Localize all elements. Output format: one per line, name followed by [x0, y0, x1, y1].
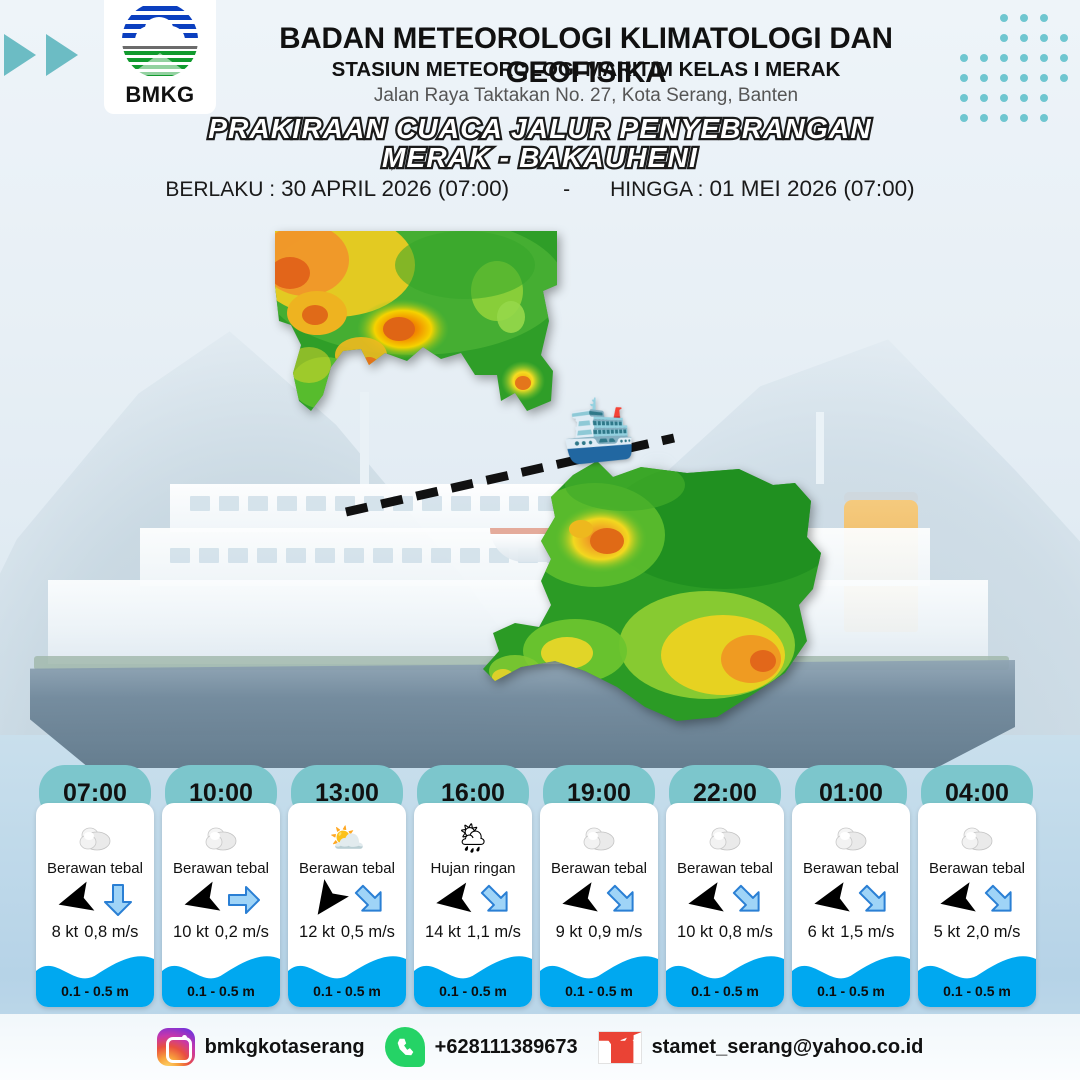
current-direction-arrow-icon	[227, 883, 261, 922]
forecast-card-list: 07:00Berawan tebal8 kt0,8 m/s0.1 - 0.5 m…	[36, 765, 1044, 1007]
current-direction-arrow-icon	[479, 883, 513, 922]
decor-triangles	[4, 34, 78, 76]
wave-height: 0.1 - 0.5 m	[36, 983, 154, 999]
wave-height: 0.1 - 0.5 m	[918, 983, 1036, 999]
wind-direction-arrow-icon	[937, 883, 979, 922]
cloud-icon	[960, 821, 994, 857]
direction-arrows	[540, 882, 658, 922]
current-speed: 0,9 m/s	[588, 923, 642, 942]
bmkg-logo-text: BMKG	[125, 82, 194, 108]
cloud-icon	[78, 821, 112, 857]
logo-land	[122, 51, 198, 78]
direction-arrows	[918, 882, 1036, 922]
decor-dot-grid	[954, 8, 1074, 128]
forecast-card: 07:00Berawan tebal8 kt0,8 m/s0.1 - 0.5 m	[36, 765, 154, 1007]
wave-height: 0.1 - 0.5 m	[414, 983, 532, 999]
wave-height: 0.1 - 0.5 m	[288, 983, 406, 999]
current-speed: 2,0 m/s	[966, 923, 1020, 942]
contact-whatsapp[interactable]: +628111389673	[385, 1027, 578, 1067]
instagram-icon	[157, 1028, 195, 1066]
logo-cloud-icon	[135, 26, 185, 48]
bmkg-logo: BMKG	[104, 0, 216, 114]
current-direction-arrow-icon	[605, 883, 639, 922]
speed-values: 5 kt2,0 m/s	[918, 923, 1036, 942]
weather-condition: Berawan tebal	[803, 860, 899, 877]
whatsapp-number: +628111389673	[435, 1036, 578, 1059]
wave-height: 0.1 - 0.5 m	[666, 983, 784, 999]
direction-arrows	[36, 882, 154, 922]
wind-direction-arrow-icon	[685, 883, 727, 922]
speed-values: 9 kt0,9 m/s	[540, 923, 658, 942]
bmkg-logo-mark	[122, 2, 198, 78]
wave-height: 0.1 - 0.5 m	[792, 983, 910, 999]
page-title: PRAKIRAAN CUACA JALUR PENYEBRANGAN MERAK…	[180, 114, 900, 172]
wave-height: 0.1 - 0.5 m	[162, 983, 280, 999]
contact-footer: bmkgkotaserang +628111389673 stamet_sera…	[0, 1014, 1080, 1080]
forecast-card: 16:00🌦Hujan ringan14 kt1,1 m/s0.1 - 0.5 …	[414, 765, 532, 1007]
page-title-line2: MERAK - BAKAUHENI	[180, 143, 900, 172]
forecast-card-body: Berawan tebal8 kt0,8 m/s0.1 - 0.5 m	[36, 803, 154, 1007]
validity-from-value: 30 APRIL 2026 (07:00)	[281, 176, 509, 202]
forecast-card: 10:00Berawan tebal10 kt0,2 m/s0.1 - 0.5 …	[162, 765, 280, 1007]
validity-period: BERLAKU : 30 APRIL 2026 (07:00) - HINGGA…	[140, 176, 940, 202]
wind-direction-arrow-icon	[55, 883, 97, 922]
contact-instagram[interactable]: bmkgkotaserang	[157, 1028, 365, 1066]
current-speed: 0,8 m/s	[719, 923, 773, 942]
wind-speed: 14 kt	[425, 923, 461, 942]
forecast-card-body: Berawan tebal10 kt0,8 m/s0.1 - 0.5 m	[666, 803, 784, 1007]
current-speed: 1,5 m/s	[840, 923, 894, 942]
wave-height: 0.1 - 0.5 m	[540, 983, 658, 999]
validity-to-label: HINGGA :	[610, 178, 703, 202]
speed-values: 8 kt0,8 m/s	[36, 923, 154, 942]
station-name: STASIUN METEOROLOGI MARITIM KELAS I MERA…	[216, 58, 956, 82]
wind-direction-arrow-icon	[181, 883, 223, 922]
triangle-icon-2	[46, 34, 78, 76]
weather-condition: Berawan tebal	[929, 860, 1025, 877]
sun-cloud-icon: ⛅	[329, 821, 365, 857]
wind-speed: 10 kt	[173, 923, 209, 942]
forecast-card-body: ⛅Berawan tebal12 kt0,5 m/s0.1 - 0.5 m	[288, 803, 406, 1007]
forecast-card-body: Berawan tebal5 kt2,0 m/s0.1 - 0.5 m	[918, 803, 1036, 1007]
page-title-line1: PRAKIRAAN CUACA JALUR PENYEBRANGAN	[180, 114, 900, 143]
forecast-card-body: 🌦Hujan ringan14 kt1,1 m/s0.1 - 0.5 m	[414, 803, 532, 1007]
current-direction-arrow-icon	[101, 883, 135, 922]
validity-from-label: BERLAKU :	[165, 178, 275, 202]
whatsapp-icon	[385, 1027, 425, 1067]
speed-values: 14 kt1,1 m/s	[414, 923, 532, 942]
wind-direction-arrow-icon	[811, 883, 853, 922]
weather-condition: Hujan ringan	[430, 860, 515, 877]
forecast-card: 22:00Berawan tebal10 kt0,8 m/s0.1 - 0.5 …	[666, 765, 784, 1007]
weather-condition: Berawan tebal	[551, 860, 647, 877]
direction-arrows	[288, 882, 406, 922]
wind-speed: 6 kt	[808, 923, 835, 942]
cloud-icon	[582, 821, 616, 857]
ship-icon: 🛳️	[557, 396, 638, 463]
station-address: Jalan Raya Taktakan No. 27, Kota Serang,…	[216, 85, 956, 107]
wind-speed: 9 kt	[556, 923, 583, 942]
forecast-card-body: Berawan tebal10 kt0,2 m/s0.1 - 0.5 m	[162, 803, 280, 1007]
cloud-icon	[708, 821, 742, 857]
weather-condition: Berawan tebal	[173, 860, 269, 877]
current-direction-arrow-icon	[857, 883, 891, 922]
logo-horizon-line	[122, 46, 198, 49]
direction-arrows	[792, 882, 910, 922]
forecast-card: 04:00Berawan tebal5 kt2,0 m/s0.1 - 0.5 m	[918, 765, 1036, 1007]
direction-arrows	[414, 882, 532, 922]
gmail-icon	[598, 1031, 642, 1064]
speed-values: 10 kt0,8 m/s	[666, 923, 784, 942]
triangle-icon-1	[4, 34, 36, 76]
wind-direction-arrow-icon	[559, 883, 601, 922]
current-speed: 0,5 m/s	[341, 923, 395, 942]
current-speed: 0,8 m/s	[84, 923, 138, 942]
validity-separator: -	[563, 178, 570, 202]
header-band: BMKG BADAN METEOROLOGI KLIMATOLOGI DAN G…	[0, 0, 1080, 215]
current-speed: 1,1 m/s	[467, 923, 521, 942]
validity-to-value: 01 MEI 2026 (07:00)	[710, 176, 915, 202]
forecast-card: 13:00⛅Berawan tebal12 kt0,5 m/s0.1 - 0.5…	[288, 765, 406, 1007]
speed-values: 10 kt0,2 m/s	[162, 923, 280, 942]
current-direction-arrow-icon	[731, 883, 765, 922]
contact-email[interactable]: stamet_serang@yahoo.co.id	[598, 1031, 924, 1064]
instagram-handle: bmkgkotaserang	[205, 1036, 365, 1059]
forecast-card-body: Berawan tebal9 kt0,9 m/s0.1 - 0.5 m	[540, 803, 658, 1007]
forecast-card: 01:00Berawan tebal6 kt1,5 m/s0.1 - 0.5 m	[792, 765, 910, 1007]
weather-condition: Berawan tebal	[299, 860, 395, 877]
direction-arrows	[162, 882, 280, 922]
speed-values: 12 kt0,5 m/s	[288, 923, 406, 942]
wind-speed: 5 kt	[934, 923, 961, 942]
email-address: stamet_serang@yahoo.co.id	[652, 1036, 924, 1059]
forecast-card: 19:00Berawan tebal9 kt0,9 m/s0.1 - 0.5 m	[540, 765, 658, 1007]
speed-values: 6 kt1,5 m/s	[792, 923, 910, 942]
direction-arrows	[666, 882, 784, 922]
wind-direction-arrow-icon	[307, 883, 349, 922]
cloud-icon	[834, 821, 868, 857]
wind-speed: 8 kt	[52, 923, 79, 942]
rain-cloud-icon: 🌦	[455, 821, 492, 857]
weather-condition: Berawan tebal	[47, 860, 143, 877]
cloud-icon	[204, 821, 238, 857]
current-direction-arrow-icon	[353, 883, 387, 922]
relief-map-south	[455, 455, 825, 730]
current-direction-arrow-icon	[983, 883, 1017, 922]
wind-speed: 10 kt	[677, 923, 713, 942]
wind-direction-arrow-icon	[433, 883, 475, 922]
weather-condition: Berawan tebal	[677, 860, 773, 877]
forecast-card-body: Berawan tebal6 kt1,5 m/s0.1 - 0.5 m	[792, 803, 910, 1007]
current-speed: 0,2 m/s	[215, 923, 269, 942]
